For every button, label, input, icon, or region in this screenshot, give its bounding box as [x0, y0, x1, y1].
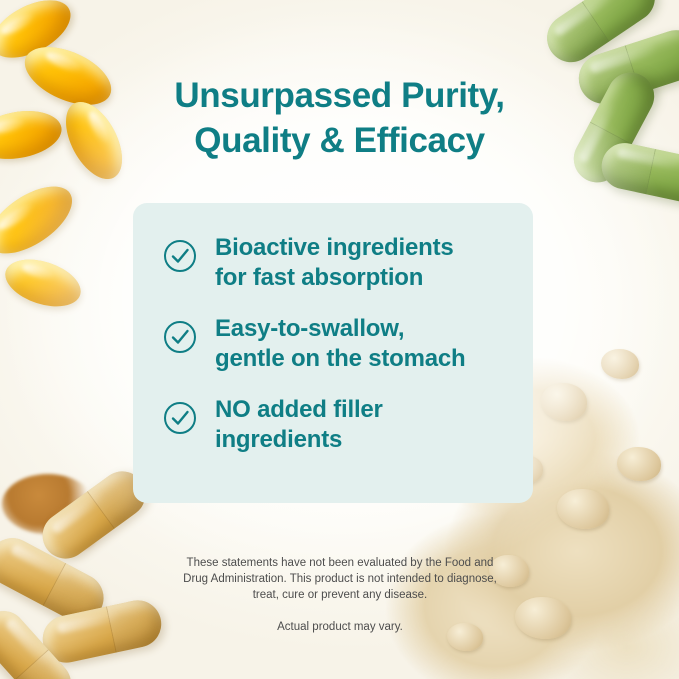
fda-disclaimer-line-2: Drug Administration. This product is not… — [120, 572, 560, 588]
benefit-line-2: ingredients — [215, 425, 383, 455]
infographic-content: Unsurpassed Purity, Quality & Efficacy B… — [0, 0, 679, 679]
check-circle-icon — [163, 401, 197, 435]
fda-disclaimer-line-3: treat, cure or prevent any disease. — [120, 588, 560, 604]
benefit-text: Bioactive ingredients for fast absorptio… — [215, 233, 454, 292]
check-circle-icon — [163, 320, 197, 354]
benefit-item: NO added filler ingredients — [163, 395, 515, 454]
benefit-line-2: for fast absorption — [215, 263, 454, 293]
benefits-card: Bioactive ingredients for fast absorptio… — [133, 203, 533, 503]
product-variance-note: Actual product may vary. — [120, 621, 560, 633]
benefit-item: Bioactive ingredients for fast absorptio… — [163, 233, 515, 292]
benefit-text: Easy-to-swallow, gentle on the stomach — [215, 314, 466, 373]
benefit-line-1: Bioactive ingredients — [215, 233, 454, 263]
benefit-text: NO added filler ingredients — [215, 395, 383, 454]
benefit-item: Easy-to-swallow, gentle on the stomach — [163, 314, 515, 373]
page-title: Unsurpassed Purity, Quality & Efficacy — [0, 74, 679, 164]
benefit-line-1: NO added filler — [215, 395, 383, 425]
benefits-list: Bioactive ingredients for fast absorptio… — [163, 233, 515, 485]
benefit-line-1: Easy-to-swallow, — [215, 314, 466, 344]
benefit-line-2: gentle on the stomach — [215, 344, 466, 374]
product-infographic: Unsurpassed Purity, Quality & Efficacy B… — [0, 0, 679, 679]
check-circle-icon — [163, 239, 197, 273]
page-title-line-2: Quality & Efficacy — [0, 119, 679, 164]
page-title-line-1: Unsurpassed Purity, — [0, 74, 679, 119]
fda-disclaimer-line-1: These statements have not been evaluated… — [120, 556, 560, 572]
fda-disclaimer: These statements have not been evaluated… — [120, 556, 560, 604]
